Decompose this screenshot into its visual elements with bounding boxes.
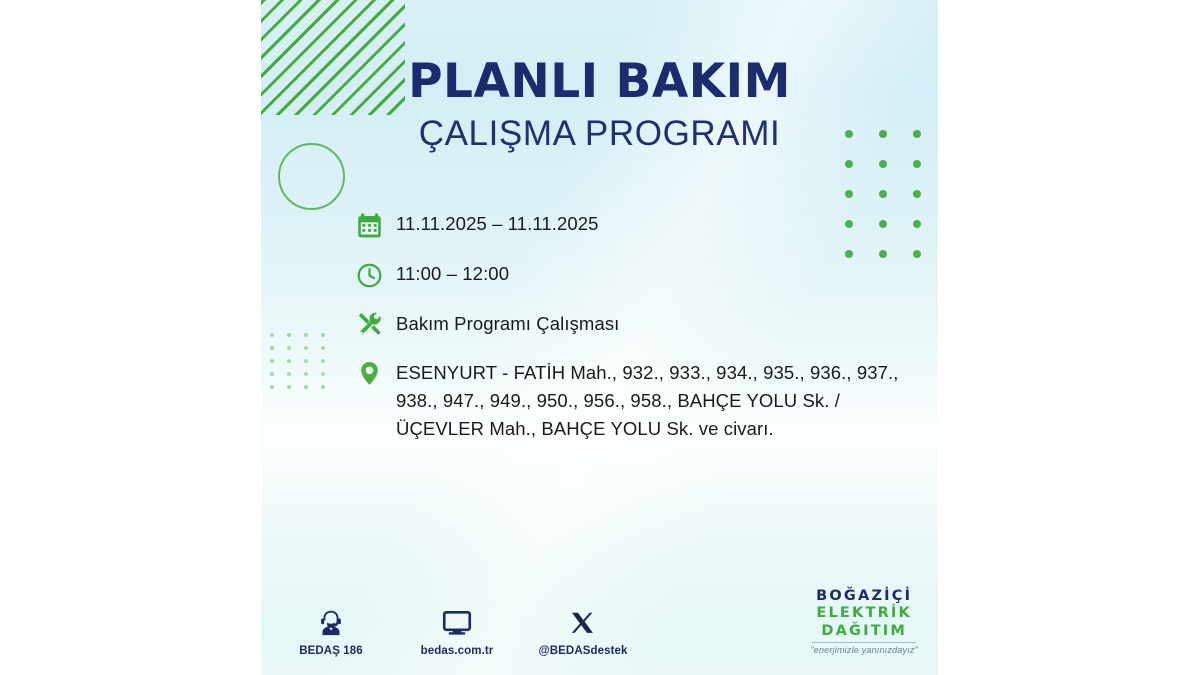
dot-grid-left-decoration xyxy=(270,333,338,398)
logo-line-1: BOĞAZİÇİ xyxy=(810,589,918,604)
title-secondary: ÇALIŞMA PROGRAMI xyxy=(261,113,938,155)
contact-list: BEDAŞ 186 bedas.com.tr xyxy=(285,602,629,657)
contact-social[interactable]: @BEDASdestek xyxy=(537,602,629,657)
time-range-text: 11:00 – 12:00 xyxy=(396,258,509,287)
page-title: PLANLI BAKIM ÇALIŞMA PROGRAMI xyxy=(261,58,938,155)
contact-social-label: @BEDASdestek xyxy=(538,645,627,657)
detail-row-date: 11.11.2025 – 11.11.2025 xyxy=(356,208,926,242)
logo-divider xyxy=(812,642,916,643)
logo-tagline: "enerjimizle yanınızdayız" xyxy=(810,646,918,655)
support-agent-icon xyxy=(316,602,346,638)
detail-row-location: ESENYURT - FATİH Mah., 932., 933., 934.,… xyxy=(356,356,926,443)
monitor-icon xyxy=(442,602,472,638)
detail-row-work-type: Bakım Programı Çalışması xyxy=(356,308,926,340)
clock-icon xyxy=(356,258,396,292)
work-type-text: Bakım Programı Çalışması xyxy=(396,308,619,337)
detail-row-time: 11:00 – 12:00 xyxy=(356,258,926,292)
calendar-icon xyxy=(356,208,396,242)
date-range-text: 11.11.2025 – 11.11.2025 xyxy=(396,208,599,237)
contact-website-label: bedas.com.tr xyxy=(421,645,494,657)
details-list: 11.11.2025 – 11.11.2025 11:00 – 12:00 xyxy=(356,208,926,443)
x-social-icon xyxy=(569,602,597,638)
contact-phone[interactable]: BEDAŞ 186 xyxy=(285,602,377,657)
announcement-card: PLANLI BAKIM ÇALIŞMA PROGRAMI xyxy=(261,0,938,675)
logo-line-3: DAĞITIM xyxy=(810,624,918,639)
company-logo: BOĞAZİÇİ ELEKTRİK DAĞITIM "enerjimizle y… xyxy=(810,589,918,656)
logo-line-2: ELEKTRİK xyxy=(810,606,918,621)
title-primary: PLANLI BAKIM xyxy=(261,58,938,107)
location-text: ESENYURT - FATİH Mah., 932., 933., 934.,… xyxy=(396,356,926,443)
contact-phone-label: BEDAŞ 186 xyxy=(299,645,363,657)
location-pin-icon xyxy=(356,356,396,390)
screenshot-root: PLANLI BAKIM ÇALIŞMA PROGRAMI xyxy=(0,0,1200,675)
footer: BEDAŞ 186 bedas.com.tr xyxy=(261,587,938,657)
tools-icon xyxy=(356,308,396,340)
contact-website[interactable]: bedas.com.tr xyxy=(411,602,503,657)
